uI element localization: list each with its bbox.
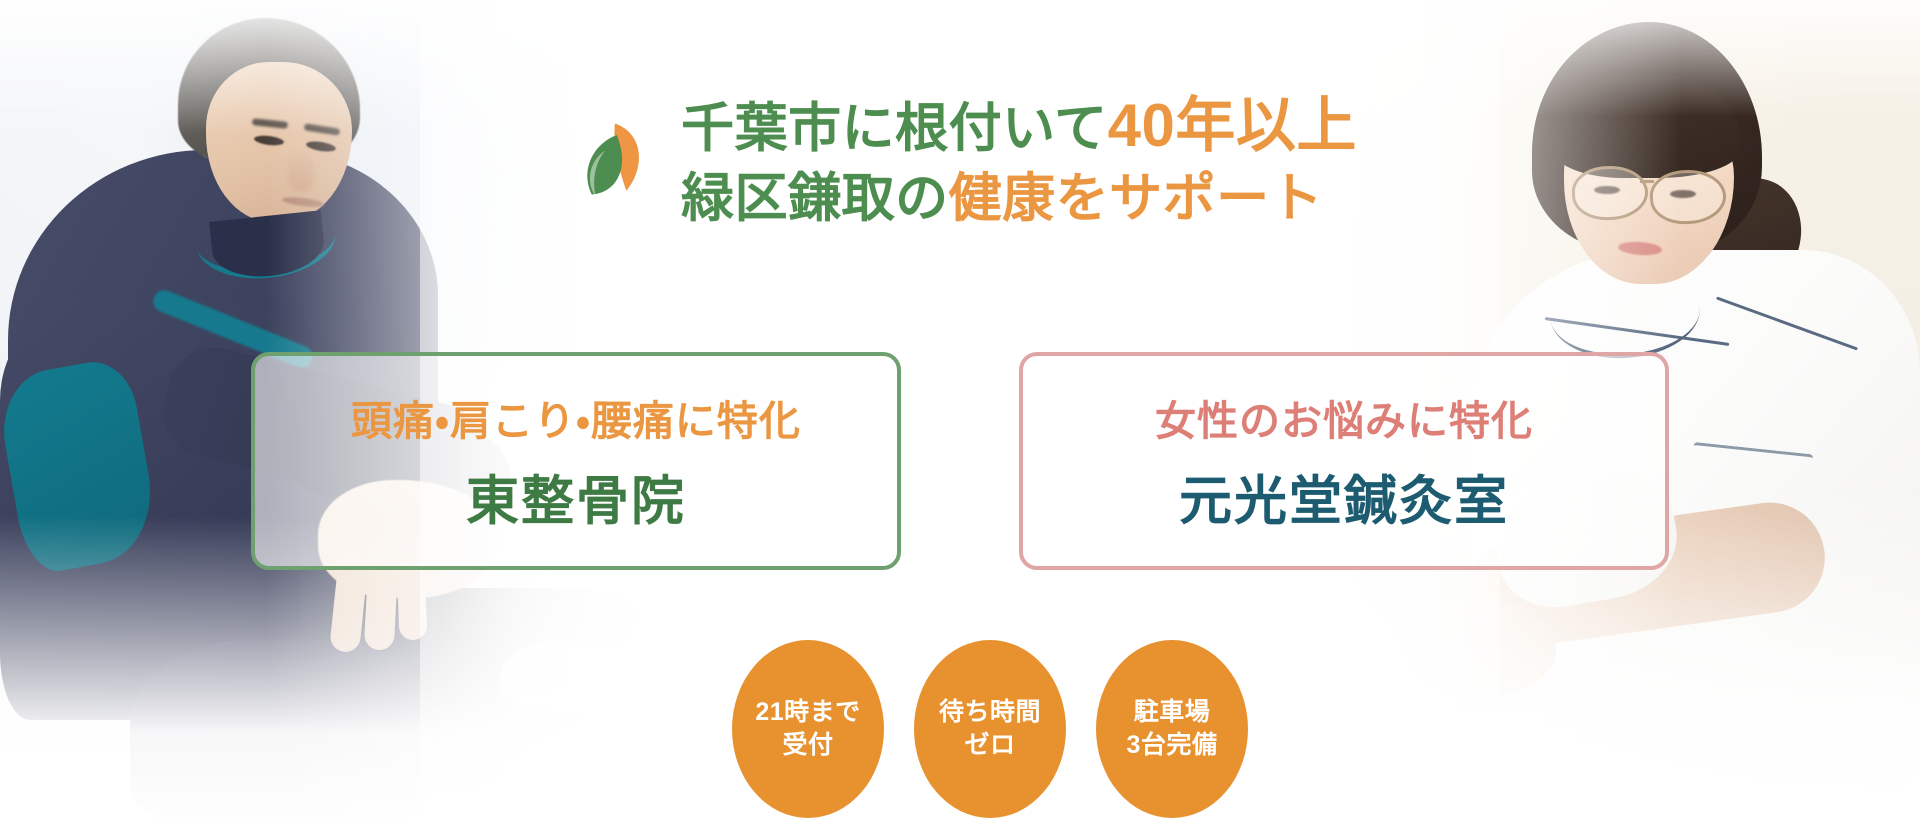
badge-line-1: 待ち時間 xyxy=(939,696,1041,730)
badge-line-2: ゼロ xyxy=(964,729,1015,763)
clinic-card-name: 東整骨院 xyxy=(466,459,686,535)
clinic-card-higashi-seikotsuin[interactable]: 頭痛・肩こり・腰痛に特化 東整骨院 xyxy=(251,352,901,570)
clinic-card-tagline: 女性のお悩みに特化 xyxy=(1155,387,1533,447)
clinic-cards: 頭痛・肩こり・腰痛に特化 東整骨院 女性のお悩みに特化 元光堂鍼灸室 xyxy=(0,352,1920,570)
badge-late-reception[interactable]: 21時まで 受付 xyxy=(732,640,884,818)
headline-text: 千葉市に根付いて40年以上 緑区鎌取の健康をサポート xyxy=(681,88,1357,233)
clinic-card-tagline: 頭痛・肩こり・腰痛に特化 xyxy=(351,387,801,447)
badge-line-2: 3台完備 xyxy=(1127,729,1218,763)
badge-line-1: 21時まで xyxy=(755,696,860,730)
headline-line2-green: 緑区鎌取の xyxy=(681,169,949,228)
clinic-card-name: 元光堂鍼灸室 xyxy=(1179,459,1509,535)
feature-badges: 21時まで 受付 待ち時間 ゼロ 駐車場 3台完備 xyxy=(0,640,1920,818)
headline-block: 千葉市に根付いて40年以上 緑区鎌取の健康をサポート xyxy=(0,88,1920,233)
headline-line1-orange: 40年以上 xyxy=(1108,92,1357,159)
badge-line-1: 駐車場 xyxy=(1134,696,1211,730)
headline-line-2: 緑区鎌取の健康をサポート xyxy=(681,165,1357,233)
badge-no-wait-time[interactable]: 待ち時間 ゼロ xyxy=(914,640,1066,818)
finger xyxy=(397,560,428,641)
badge-line-2: 受付 xyxy=(782,729,833,763)
clinic-card-genkodo-shinkyushitsu[interactable]: 女性のお悩みに特化 元光堂鍼灸室 xyxy=(1019,352,1669,570)
badge-parking[interactable]: 駐車場 3台完備 xyxy=(1096,640,1248,818)
headline-line1-green: 千葉市に根付いて xyxy=(681,99,1107,158)
headline-line-1: 千葉市に根付いて40年以上 xyxy=(681,88,1357,165)
leaf-circle-logo-icon xyxy=(563,112,659,208)
headline-line2-orange: 健康をサポート xyxy=(949,169,1324,228)
finger xyxy=(364,561,399,650)
hero-banner: 千葉市に根付いて40年以上 緑区鎌取の健康をサポート 頭痛・肩こり・腰痛に特化 … xyxy=(0,0,1920,833)
